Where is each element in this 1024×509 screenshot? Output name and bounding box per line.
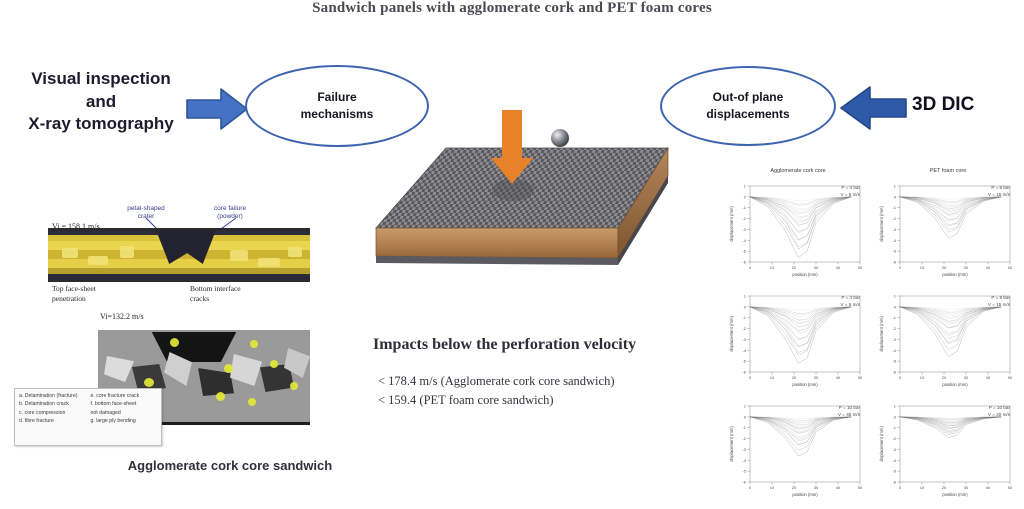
svg-text:0: 0 [744, 304, 747, 309]
svg-text:-1: -1 [742, 315, 746, 320]
impact-velocity-cork: < 178.4 m/s (Agglomerate cork core sandw… [378, 372, 728, 391]
svg-text:10: 10 [920, 375, 925, 380]
svg-text:50: 50 [858, 485, 863, 490]
svg-text:40: 40 [836, 265, 841, 270]
svg-text:0: 0 [899, 265, 902, 270]
svg-text:1: 1 [894, 184, 897, 189]
impact-velocity-pet: < 159.4 (PET foam core sandwich) [378, 391, 728, 410]
legend-item: f. bottom face-sheet [91, 400, 158, 408]
svg-text:-6: -6 [742, 260, 746, 265]
svg-text:20: 20 [942, 375, 947, 380]
svg-text:30: 30 [814, 375, 819, 380]
svg-text:30: 30 [964, 375, 969, 380]
sandwich-panel-illustration [368, 108, 703, 323]
svg-text:50: 50 [858, 265, 863, 270]
chart-annotation-0: P = 4 barV = 5 m/s [840, 185, 860, 199]
svg-text:1: 1 [744, 404, 747, 409]
ct-legend-column-left: a. Delamination (fracture) b. Delaminati… [19, 392, 86, 442]
dic-chart-grid: Agglomerate cork core PET foam core 0102… [722, 168, 1022, 506]
chart-cell-2: 01020304050-6-5-4-3-2-101position (mm)di… [726, 288, 866, 388]
svg-text:1: 1 [894, 404, 897, 409]
svg-text:0: 0 [899, 485, 902, 490]
svg-text:30: 30 [964, 265, 969, 270]
legend-item: a. Delamination (fracture) [19, 392, 86, 400]
svg-text:-2: -2 [892, 326, 896, 331]
svg-text:displacement (mm): displacement (mm) [729, 206, 734, 242]
svg-text:10: 10 [920, 265, 925, 270]
svg-text:position (mm): position (mm) [942, 492, 968, 497]
svg-text:position (mm): position (mm) [942, 272, 968, 277]
ct-bottom-velocity-label: Vi=132.2 m/s [100, 312, 144, 321]
chart-annotation-5: P = 10 barV = 20 m/s [988, 405, 1010, 419]
svg-text:0: 0 [894, 194, 897, 199]
svg-text:-6: -6 [742, 480, 746, 485]
svg-text:-4: -4 [742, 238, 746, 243]
svg-text:-5: -5 [892, 249, 896, 254]
chart-column-header-pet: PET foam core [878, 168, 1018, 174]
svg-text:1: 1 [744, 294, 747, 299]
svg-text:-1: -1 [742, 425, 746, 430]
svg-text:-6: -6 [892, 370, 896, 375]
impact-velocity-title: Impacts below the perforation velocity [373, 336, 713, 354]
svg-text:50: 50 [1008, 485, 1013, 490]
svg-text:-2: -2 [892, 216, 896, 221]
svg-text:-4: -4 [892, 348, 896, 353]
svg-text:0: 0 [749, 375, 752, 380]
svg-text:-6: -6 [892, 260, 896, 265]
right-method-heading: 3D DIC [912, 94, 1020, 116]
svg-text:0: 0 [749, 265, 752, 270]
svg-text:30: 30 [964, 485, 969, 490]
arrow-right-icon [185, 86, 249, 132]
chart-cell-4: 01020304050-6-5-4-3-2-101position (mm)di… [726, 398, 866, 498]
svg-text:0: 0 [899, 375, 902, 380]
svg-text:0: 0 [749, 485, 752, 490]
arrow-left-icon [838, 84, 908, 132]
chart-annotation-4: P = 10 barV = 45 m/s [838, 405, 860, 419]
svg-text:-2: -2 [742, 326, 746, 331]
svg-text:-3: -3 [892, 447, 896, 452]
svg-text:-5: -5 [742, 249, 746, 254]
svg-text:-1: -1 [892, 315, 896, 320]
svg-text:-2: -2 [742, 216, 746, 221]
svg-text:50: 50 [1008, 265, 1013, 270]
chart-column-header-cork: Agglomerate cork core [728, 168, 868, 174]
svg-text:displacement (mm): displacement (mm) [879, 206, 884, 242]
svg-text:30: 30 [814, 485, 819, 490]
chart-cell-0: 01020304050-6-5-4-3-2-101position (mm)di… [726, 178, 866, 278]
ct-legend-column-right: e. core fracture crack f. bottom face-sh… [91, 392, 158, 442]
svg-text:0: 0 [744, 194, 747, 199]
svg-text:displacement (mm): displacement (mm) [879, 426, 884, 462]
chart-annotation-2: P = 4 barV = 5 m/s [840, 295, 860, 309]
svg-text:displacement (mm): displacement (mm) [729, 316, 734, 352]
chart-cell-1: 01020304050-6-5-4-3-2-101position (mm)di… [876, 178, 1016, 278]
svg-text:40: 40 [986, 485, 991, 490]
svg-text:1: 1 [894, 294, 897, 299]
svg-text:-5: -5 [742, 359, 746, 364]
svg-text:0: 0 [894, 414, 897, 419]
svg-text:-4: -4 [892, 458, 896, 463]
svg-text:-4: -4 [892, 238, 896, 243]
left-method-line-1: Visual inspection [6, 68, 196, 91]
svg-text:-3: -3 [742, 447, 746, 452]
svg-text:-5: -5 [892, 469, 896, 474]
ellipse-failure-line-2: mechanisms [301, 106, 374, 123]
svg-text:position (mm): position (mm) [792, 272, 818, 277]
left-method-heading: Visual inspection and X-ray tomography [6, 68, 196, 136]
ct-crater-region [156, 230, 216, 264]
svg-text:-5: -5 [742, 469, 746, 474]
svg-text:1: 1 [744, 184, 747, 189]
impact-velocity-values: < 178.4 m/s (Agglomerate cork core sandw… [378, 372, 728, 410]
chart-annotation-3: P = 8 barV = 15 m/s [988, 295, 1010, 309]
svg-text:-5: -5 [892, 359, 896, 364]
projectile-icon [551, 129, 569, 147]
svg-text:20: 20 [942, 265, 947, 270]
svg-text:10: 10 [770, 375, 775, 380]
svg-text:position (mm): position (mm) [792, 382, 818, 387]
svg-text:10: 10 [770, 265, 775, 270]
svg-text:-6: -6 [892, 480, 896, 485]
svg-text:50: 50 [858, 375, 863, 380]
ellipse-disp-line-1: Out-of plane [706, 89, 789, 106]
legend-item: not damaged [91, 409, 158, 417]
legend-item: c. core compression [19, 409, 86, 417]
svg-text:40: 40 [836, 375, 841, 380]
ct-caption-left: Top face-sheet penetration [52, 284, 122, 304]
svg-text:displacement (mm): displacement (mm) [729, 426, 734, 462]
svg-text:-4: -4 [742, 348, 746, 353]
left-method-line-3: X-ray tomography [6, 113, 196, 136]
svg-text:40: 40 [836, 485, 841, 490]
svg-text:-1: -1 [892, 425, 896, 430]
svg-text:50: 50 [1008, 375, 1013, 380]
svg-text:-3: -3 [892, 337, 896, 342]
svg-text:-6: -6 [742, 370, 746, 375]
sandwich-panel-svg [368, 108, 703, 323]
svg-text:-2: -2 [742, 436, 746, 441]
legend-item: e. core fracture crack [91, 392, 158, 400]
svg-text:-1: -1 [892, 205, 896, 210]
ct-legend-box: a. Delamination (fracture) b. Delaminati… [14, 388, 162, 446]
left-block-caption: Agglomerate cork core sandwich [70, 458, 390, 473]
svg-text:20: 20 [942, 485, 947, 490]
ct-caption-right: Bottom interface cracks [190, 284, 266, 304]
svg-text:-2: -2 [892, 436, 896, 441]
chart-cell-5: 01020304050-6-5-4-3-2-101position (mm)di… [876, 398, 1016, 498]
chart-annotation-1: P = 8 barV = 15 m/s [988, 185, 1010, 199]
ct-cross-section-top [48, 228, 310, 282]
ellipse-failure-line-1: Failure [301, 89, 374, 106]
svg-text:30: 30 [814, 265, 819, 270]
svg-text:-3: -3 [892, 227, 896, 232]
svg-text:20: 20 [792, 485, 797, 490]
svg-text:40: 40 [986, 375, 991, 380]
svg-text:-3: -3 [742, 337, 746, 342]
chart-cell-3: 01020304050-6-5-4-3-2-101position (mm)di… [876, 288, 1016, 388]
ellipse-disp-line-2: displacements [706, 106, 789, 123]
svg-text:20: 20 [792, 265, 797, 270]
svg-text:-4: -4 [742, 458, 746, 463]
svg-text:20: 20 [792, 375, 797, 380]
legend-item: d. fibre fracture [19, 417, 86, 425]
ct-void-region [146, 332, 242, 362]
graphical-abstract: Sandwich panels with agglomerate cork an… [0, 0, 1024, 509]
svg-text:0: 0 [894, 304, 897, 309]
legend-item: g. large ply bending [91, 417, 158, 425]
svg-text:-1: -1 [742, 205, 746, 210]
svg-text:-3: -3 [742, 227, 746, 232]
left-method-line-2: and [6, 91, 196, 114]
svg-text:displacement (mm): displacement (mm) [879, 316, 884, 352]
svg-text:0: 0 [744, 414, 747, 419]
svg-text:10: 10 [920, 485, 925, 490]
legend-item: b. Delamination crack [19, 400, 86, 408]
svg-text:position (mm): position (mm) [942, 382, 968, 387]
svg-text:position (mm): position (mm) [792, 492, 818, 497]
svg-text:40: 40 [986, 265, 991, 270]
svg-text:10: 10 [770, 485, 775, 490]
page-title: Sandwich panels with agglomerate cork an… [0, 0, 1024, 17]
